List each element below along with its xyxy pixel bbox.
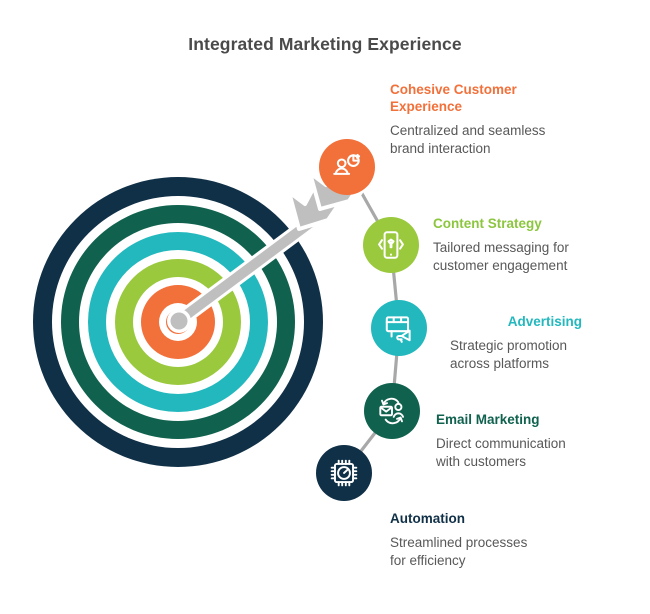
node-circle-content-strategy[interactable] bbox=[363, 217, 419, 273]
heading-content-strategy: Content Strategy bbox=[433, 215, 628, 232]
cpu-gauge-icon bbox=[327, 456, 361, 490]
email-customer-cycle-icon bbox=[375, 394, 409, 428]
heading-email-marketing: Email Marketing bbox=[436, 411, 626, 428]
text-block-advertising: Advertising Strategic promotion across p… bbox=[448, 313, 633, 373]
text-block-automation: Automation Streamlined processes for eff… bbox=[390, 510, 580, 570]
heading-advertising: Advertising bbox=[448, 313, 582, 330]
text-block-cohesive-customer-experience: Cohesive Customer Experience Centralized… bbox=[390, 81, 575, 158]
node-circle-email-marketing[interactable] bbox=[364, 383, 420, 439]
text-block-email-marketing: Email Marketing Direct communication wit… bbox=[436, 411, 626, 471]
node-circle-advertising[interactable] bbox=[371, 300, 427, 356]
body-automation: Streamlined processes for efficiency bbox=[390, 534, 580, 570]
body-email-marketing: Direct communication with customers bbox=[436, 435, 626, 471]
infographic-root: Integrated Marketing Experience bbox=[0, 0, 650, 614]
page-title: Integrated Marketing Experience bbox=[0, 34, 650, 55]
heading-cohesive-customer-experience: Cohesive Customer Experience bbox=[390, 81, 575, 115]
body-advertising: Strategic promotion across platforms bbox=[450, 337, 633, 373]
billboard-megaphone-icon bbox=[382, 311, 416, 345]
mobile-content-code-icon bbox=[374, 228, 408, 262]
node-circle-automation[interactable] bbox=[316, 445, 372, 501]
heading-automation: Automation bbox=[390, 510, 580, 527]
body-content-strategy: Tailored messaging for customer engageme… bbox=[433, 239, 628, 275]
bullseye-target bbox=[33, 177, 323, 467]
text-block-content-strategy: Content Strategy Tailored messaging for … bbox=[433, 215, 628, 275]
node-circle-cohesive-customer-experience[interactable] bbox=[319, 139, 375, 195]
body-cohesive-customer-experience: Centralized and seamless brand interacti… bbox=[390, 122, 575, 158]
user-refresh-icon bbox=[330, 150, 364, 184]
